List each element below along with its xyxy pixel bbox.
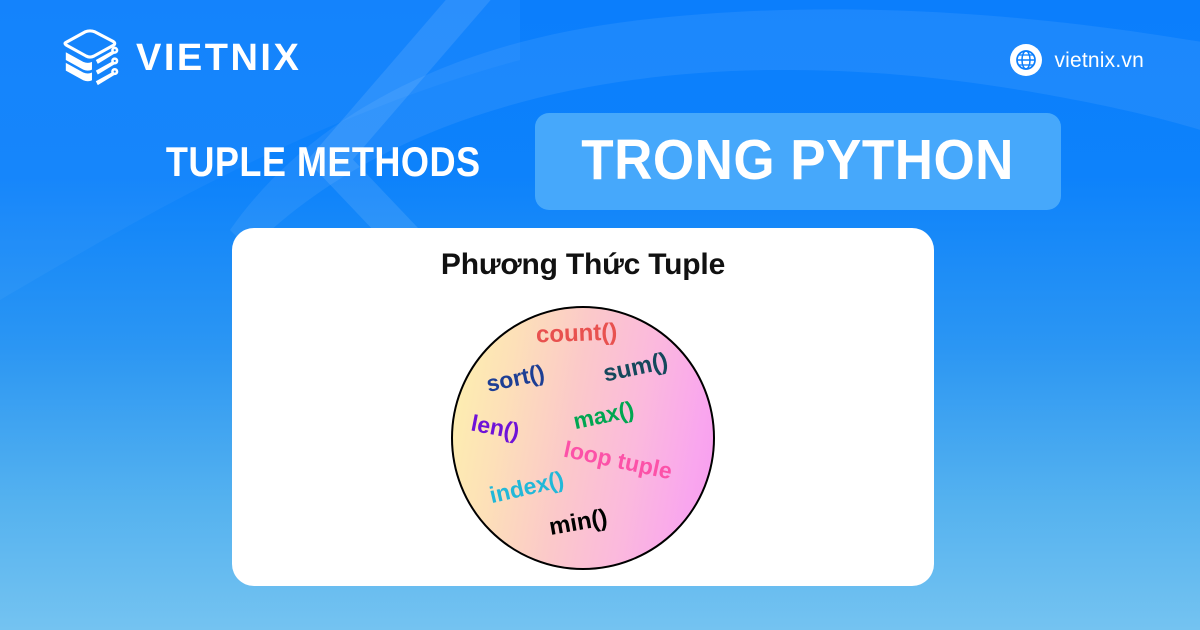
title-prefix: TUPLE METHODS (166, 138, 496, 186)
site-url-text: vietnix.vn (1054, 50, 1144, 71)
content-card: Phương Thức Tuple count()sum()sort()max(… (232, 228, 934, 586)
brand-logo-group[interactable]: VIETNIX (60, 27, 301, 89)
card-heading: Phương Thức Tuple (232, 248, 934, 282)
brand-name: VIETNIX (136, 39, 301, 77)
stacked-layers-icon (60, 27, 122, 89)
poster-canvas: VIETNIX vietnix.vn TUPLE METHODS TRONG P… (0, 0, 1200, 630)
title-badge: TRONG PYTHON (535, 113, 1060, 210)
title-badge-text: TRONG PYTHON (582, 132, 1015, 189)
circle-word: count() (536, 321, 618, 348)
poster-title-row: TUPLE METHODS TRONG PYTHON (0, 113, 1200, 210)
tuple-methods-circle: count()sum()sort()max()len()loop tuplein… (451, 306, 715, 570)
globe-icon (1010, 44, 1042, 76)
site-url-group[interactable]: vietnix.vn (1010, 44, 1144, 76)
